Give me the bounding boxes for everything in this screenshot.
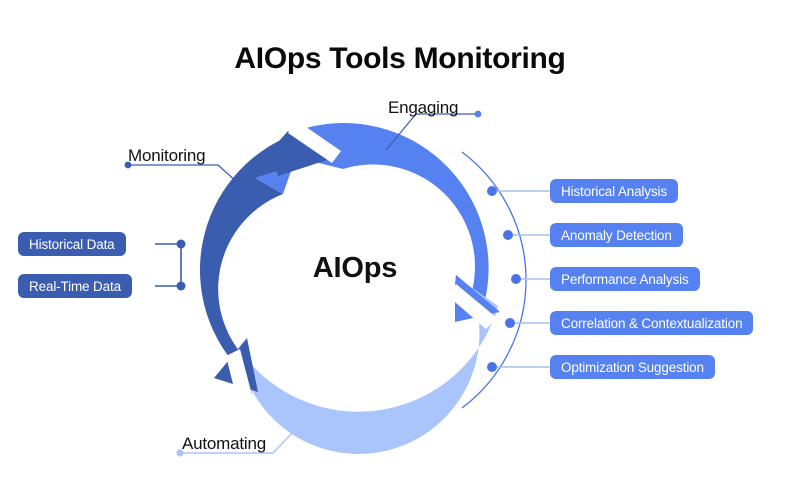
segment-label-engaging: Engaging [388,98,458,118]
right-item-performance-analysis[interactable]: Performance Analysis [550,267,700,291]
right-connector-4 [487,362,550,372]
right-connector-dot-1 [503,230,513,240]
left-connector-dot-1 [177,282,186,291]
right-connector-1 [503,230,550,240]
right-item-historical-analysis[interactable]: Historical Analysis [550,179,678,203]
diagram-canvas: AIOps Tools Monitoring [0,0,800,480]
segment-label-automating: Automating [182,434,266,454]
right-connector-2 [511,274,550,284]
left-item-historical-data[interactable]: Historical Data [18,232,126,256]
right-connector-dot-4 [487,362,497,372]
left-item-real-time-data[interactable]: Real-Time Data [18,274,132,298]
left-connector-dot-0 [177,240,186,249]
leader-monitoring [125,162,248,192]
right-connector-dot-2 [511,274,521,284]
right-item-correlation-contextualization[interactable]: Correlation & Contextualization [550,311,753,335]
right-connector-dot-0 [487,186,497,196]
leader-dot-engaging [475,111,482,118]
right-connector-3 [505,318,550,328]
right-item-anomaly-detection[interactable]: Anomaly Detection [550,223,683,247]
right-connector-dot-3 [505,318,515,328]
left-connector-bracket [155,240,186,291]
right-item-optimization-suggestion[interactable]: Optimization Suggestion [550,355,715,379]
segment-label-monitoring: Monitoring [128,146,205,166]
